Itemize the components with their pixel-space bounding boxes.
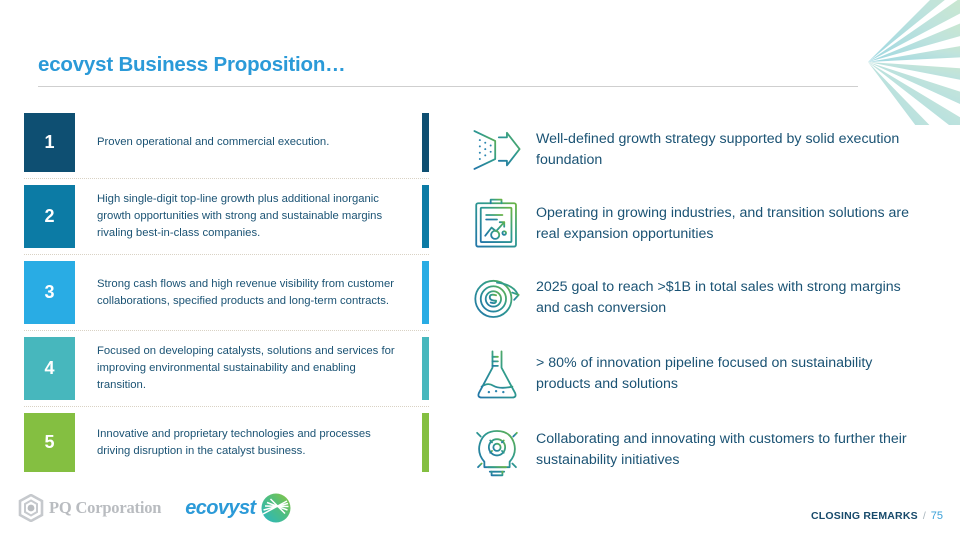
footer-separator: /	[923, 510, 926, 522]
highlight-text: Collaborating and innovating with custom…	[536, 429, 928, 471]
proposition-text: Focused on developing catalysts, solutio…	[75, 337, 420, 400]
proposition-text: Innovative and proprietary technologies …	[75, 413, 420, 472]
proposition-accent-bar	[422, 185, 429, 248]
proposition-text: Strong cash flows and high revenue visib…	[75, 261, 420, 324]
proposition-number: 3	[44, 282, 54, 303]
highlight-list: Well-defined growth strategy supported b…	[458, 113, 928, 487]
proposition-row: 5Innovative and proprietary technologies…	[24, 413, 429, 472]
ecovyst-wordmark: ecovyst	[185, 497, 255, 520]
title-divider	[38, 86, 858, 87]
highlight-row: Collaborating and innovating with custom…	[458, 413, 928, 487]
proposition-accent-bar	[422, 413, 429, 472]
proposition-row: 1Proven operational and commercial execu…	[24, 113, 429, 172]
funnel-arrow-icon	[458, 122, 536, 178]
proposition-accent-bar	[422, 337, 429, 400]
footer-page-info: CLOSING REMARKS / 75	[811, 510, 943, 522]
proposition-separator	[24, 324, 429, 331]
highlight-text: Operating in growing industries, and tra…	[536, 203, 928, 245]
highlight-text: 2025 goal to reach >$1B in total sales w…	[536, 277, 928, 319]
proposition-number: 2	[44, 206, 54, 227]
proposition-accent-bar	[422, 113, 429, 172]
pq-corporation-wordmark: PQ Corporation	[49, 498, 161, 518]
proposition-number-badge: 2	[24, 185, 75, 248]
dollar-coin-arrow-icon	[458, 270, 536, 326]
proposition-text: Proven operational and commercial execut…	[75, 113, 420, 172]
highlight-text: > 80% of innovation pipeline focused on …	[536, 353, 928, 395]
proposition-number-badge: 1	[24, 113, 75, 172]
proposition-number-badge: 5	[24, 413, 75, 472]
proposition-number-badge: 4	[24, 337, 75, 400]
ecovyst-sphere-icon	[260, 492, 292, 524]
proposition-number: 4	[44, 358, 54, 379]
highlight-text: Well-defined growth strategy supported b…	[536, 129, 928, 171]
proposition-separator	[24, 400, 429, 407]
pq-corporation-logo: PQ Corporation	[18, 494, 161, 522]
clipboard-chart-icon	[458, 196, 536, 252]
ecovyst-logo: ecovyst	[185, 492, 291, 524]
highlight-row: > 80% of innovation pipeline focused on …	[458, 335, 928, 413]
footer-section-label: CLOSING REMARKS	[811, 510, 918, 522]
proposition-number: 1	[44, 132, 54, 153]
proposition-row: 2High single-digit top-line growth plus …	[24, 185, 429, 248]
proposition-separator	[24, 248, 429, 255]
lightbulb-gear-icon	[458, 422, 536, 478]
title-block: ecovyst Business Proposition…	[38, 54, 858, 87]
highlight-row: 2025 goal to reach >$1B in total sales w…	[458, 261, 928, 335]
flask-icon	[458, 346, 536, 402]
page-title: ecovyst Business Proposition…	[38, 54, 858, 77]
proposition-list: 1Proven operational and commercial execu…	[24, 113, 429, 472]
proposition-number: 5	[44, 432, 54, 453]
highlight-row: Well-defined growth strategy supported b…	[458, 113, 928, 187]
proposition-separator	[24, 172, 429, 179]
proposition-row: 4Focused on developing catalysts, soluti…	[24, 337, 429, 400]
pq-hexagon-icon	[18, 494, 44, 522]
proposition-number-badge: 3	[24, 261, 75, 324]
highlight-row: Operating in growing industries, and tra…	[458, 187, 928, 261]
page-number: 75	[931, 510, 943, 522]
sunburst-decoration	[840, 0, 960, 125]
proposition-row: 3Strong cash flows and high revenue visi…	[24, 261, 429, 324]
proposition-accent-bar	[422, 261, 429, 324]
proposition-text: High single-digit top-line growth plus a…	[75, 185, 420, 248]
footer-logos: PQ Corporation ecovyst	[18, 492, 292, 524]
